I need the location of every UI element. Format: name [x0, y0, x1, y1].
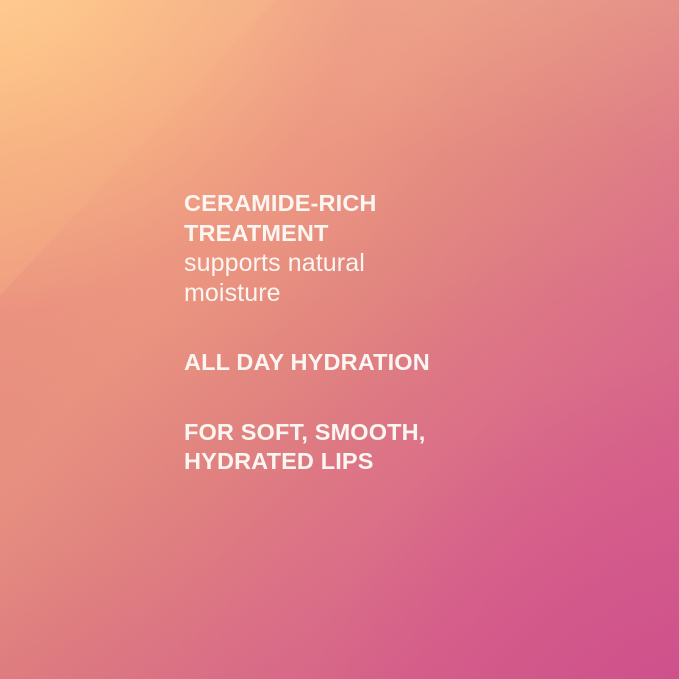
benefit-block-all-day-hydration: ALL DAY HYDRATION	[184, 348, 604, 378]
benefit-headline: CERAMIDE-RICH TREATMENT	[184, 189, 604, 248]
benefit-headline: FOR SOFT, SMOOTH, HYDRATED LIPS	[184, 418, 604, 477]
product-benefit-graphic: CERAMIDE-RICH TREATMENT supports natural…	[0, 0, 679, 679]
benefit-copy-stack: CERAMIDE-RICH TREATMENT supports natural…	[184, 189, 604, 477]
benefit-subline: supports natural moisture	[184, 248, 604, 308]
benefit-headline: ALL DAY HYDRATION	[184, 348, 604, 378]
benefit-block-soft-smooth-lips: FOR SOFT, SMOOTH, HYDRATED LIPS	[184, 418, 604, 477]
benefit-block-ceramide-treatment: CERAMIDE-RICH TREATMENT supports natural…	[184, 189, 604, 308]
